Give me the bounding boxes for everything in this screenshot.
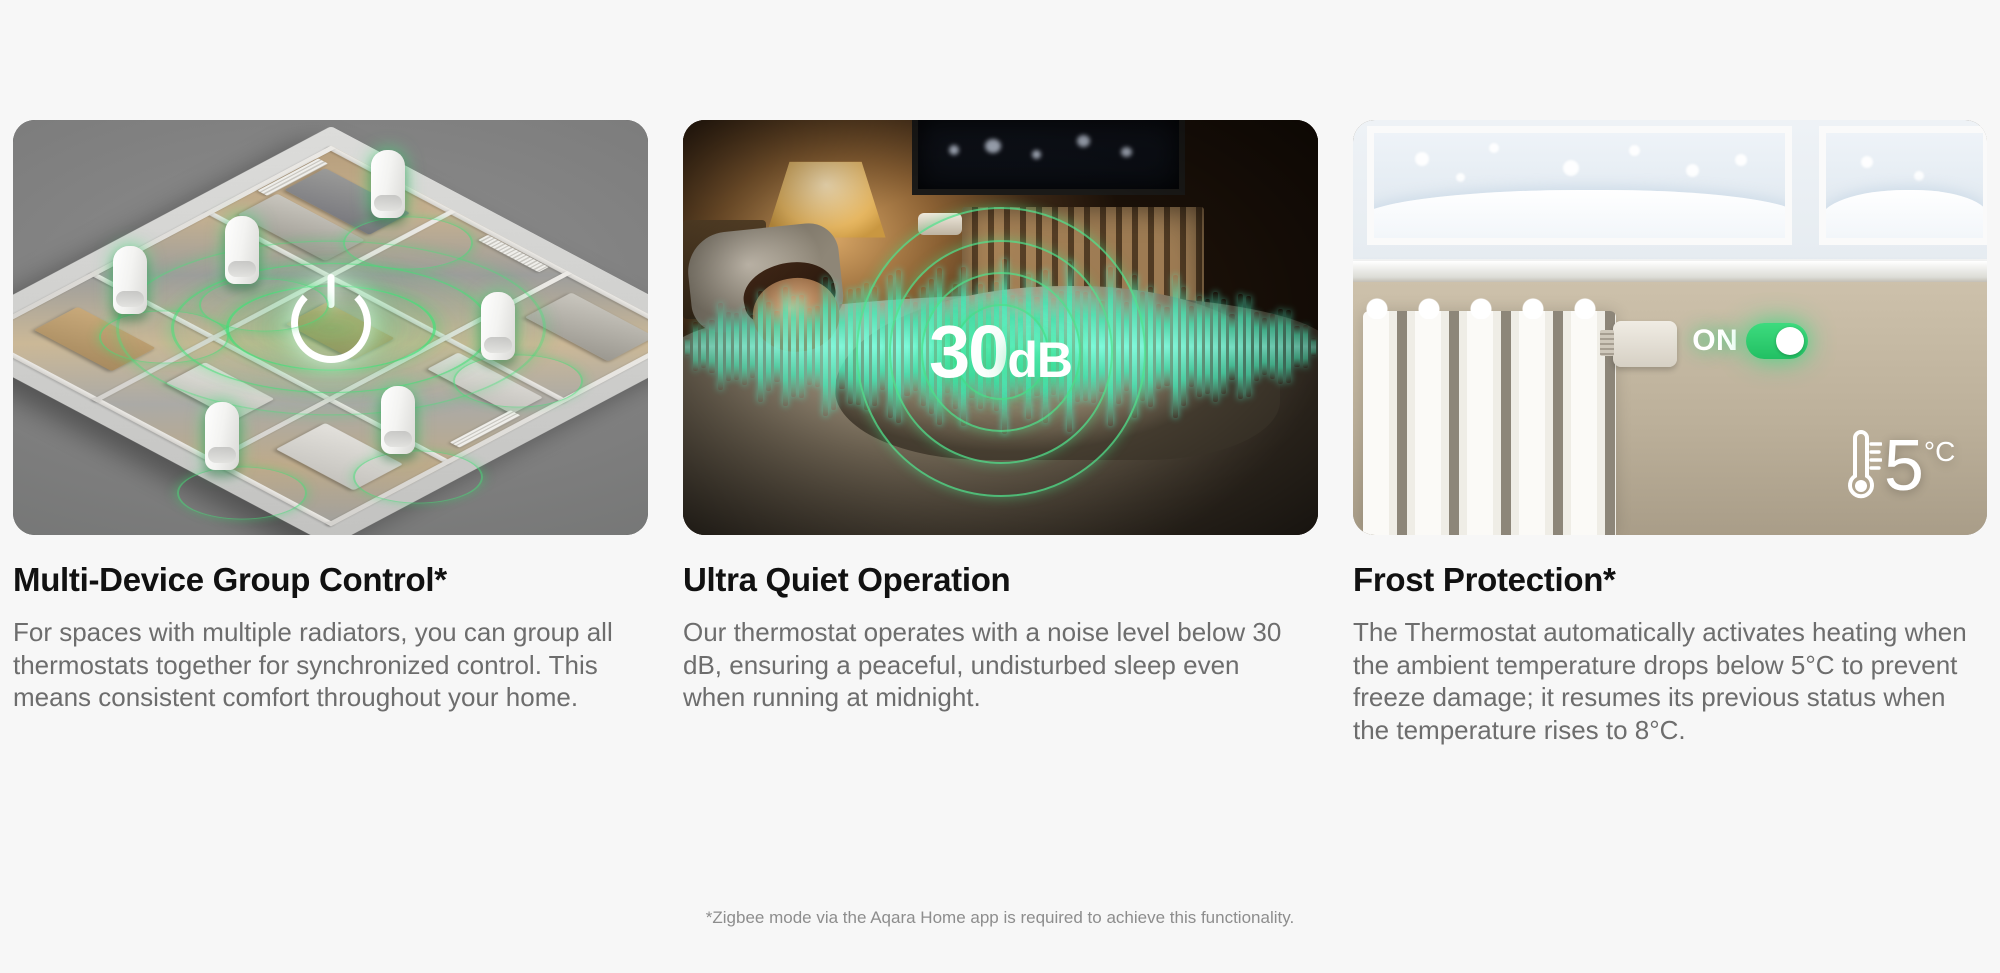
radiator bbox=[1363, 311, 1617, 535]
device-signal-ring bbox=[353, 451, 483, 504]
noise-level-label: 30dB bbox=[929, 315, 1072, 389]
feature-image-floorplan bbox=[13, 120, 648, 535]
thermostat-device bbox=[113, 246, 147, 314]
thermometer-icon bbox=[1838, 430, 1882, 502]
thermostat-device bbox=[205, 402, 239, 470]
temperature-readout: 5 °C bbox=[1838, 430, 1955, 502]
power-toggle[interactable]: ON bbox=[1692, 323, 1808, 359]
feature-title: Multi-Device Group Control* bbox=[13, 561, 648, 599]
toggle-knob bbox=[1776, 327, 1804, 355]
window-snow-bank bbox=[1820, 190, 1987, 239]
temperature-value: 5 bbox=[1884, 433, 1924, 499]
footnote: *Zigbee mode via the Aqara Home app is r… bbox=[0, 908, 2000, 928]
thermostat-device bbox=[1613, 321, 1677, 367]
toggle-switch[interactable] bbox=[1746, 323, 1808, 359]
device-signal-ring bbox=[199, 279, 329, 332]
feature-image-frost: ON 5 °C bbox=[1353, 120, 1987, 535]
snowy-window bbox=[1353, 120, 1987, 269]
feature-highlights-page: Multi-Device Group Control* For spaces w… bbox=[0, 0, 2000, 973]
thermostat-device bbox=[381, 386, 415, 454]
device-signal-ring bbox=[453, 355, 583, 408]
window-pane-left bbox=[1367, 126, 1792, 246]
feature-description: For spaces with multiple radiators, you … bbox=[13, 616, 633, 714]
feature-grid: Multi-Device Group Control* For spaces w… bbox=[13, 120, 1987, 747]
floorplan-illustration bbox=[13, 120, 648, 535]
feature-card-multi-device-group-control: Multi-Device Group Control* For spaces w… bbox=[13, 120, 648, 747]
thermostat-device bbox=[481, 292, 515, 360]
temperature-unit: °C bbox=[1924, 436, 1955, 468]
feature-title: Frost Protection* bbox=[1353, 561, 1987, 599]
feature-card-frost-protection: ON 5 °C bbox=[1353, 120, 1987, 747]
feature-description: Our thermostat operates with a noise lev… bbox=[683, 616, 1303, 714]
feature-description: The Thermostat automatically activates h… bbox=[1353, 616, 1973, 747]
toggle-label: ON bbox=[1692, 324, 1738, 358]
noise-level-unit: dB bbox=[1007, 332, 1072, 388]
noise-level-value: 30 bbox=[929, 310, 1007, 393]
window-pane-right bbox=[1819, 126, 1987, 246]
feature-title: Ultra Quiet Operation bbox=[683, 561, 1318, 599]
window-snow-bank bbox=[1367, 190, 1792, 239]
feature-image-bedroom: 30dB bbox=[683, 120, 1318, 535]
device-signal-ring bbox=[177, 467, 307, 520]
feature-card-ultra-quiet-operation: 30dB Ultra Quiet Operation Our thermosta… bbox=[683, 120, 1318, 747]
thermostat-device bbox=[225, 216, 259, 284]
thermostat-device bbox=[371, 150, 405, 218]
window-sill bbox=[1353, 261, 1987, 284]
device-signal-ring bbox=[343, 217, 473, 270]
